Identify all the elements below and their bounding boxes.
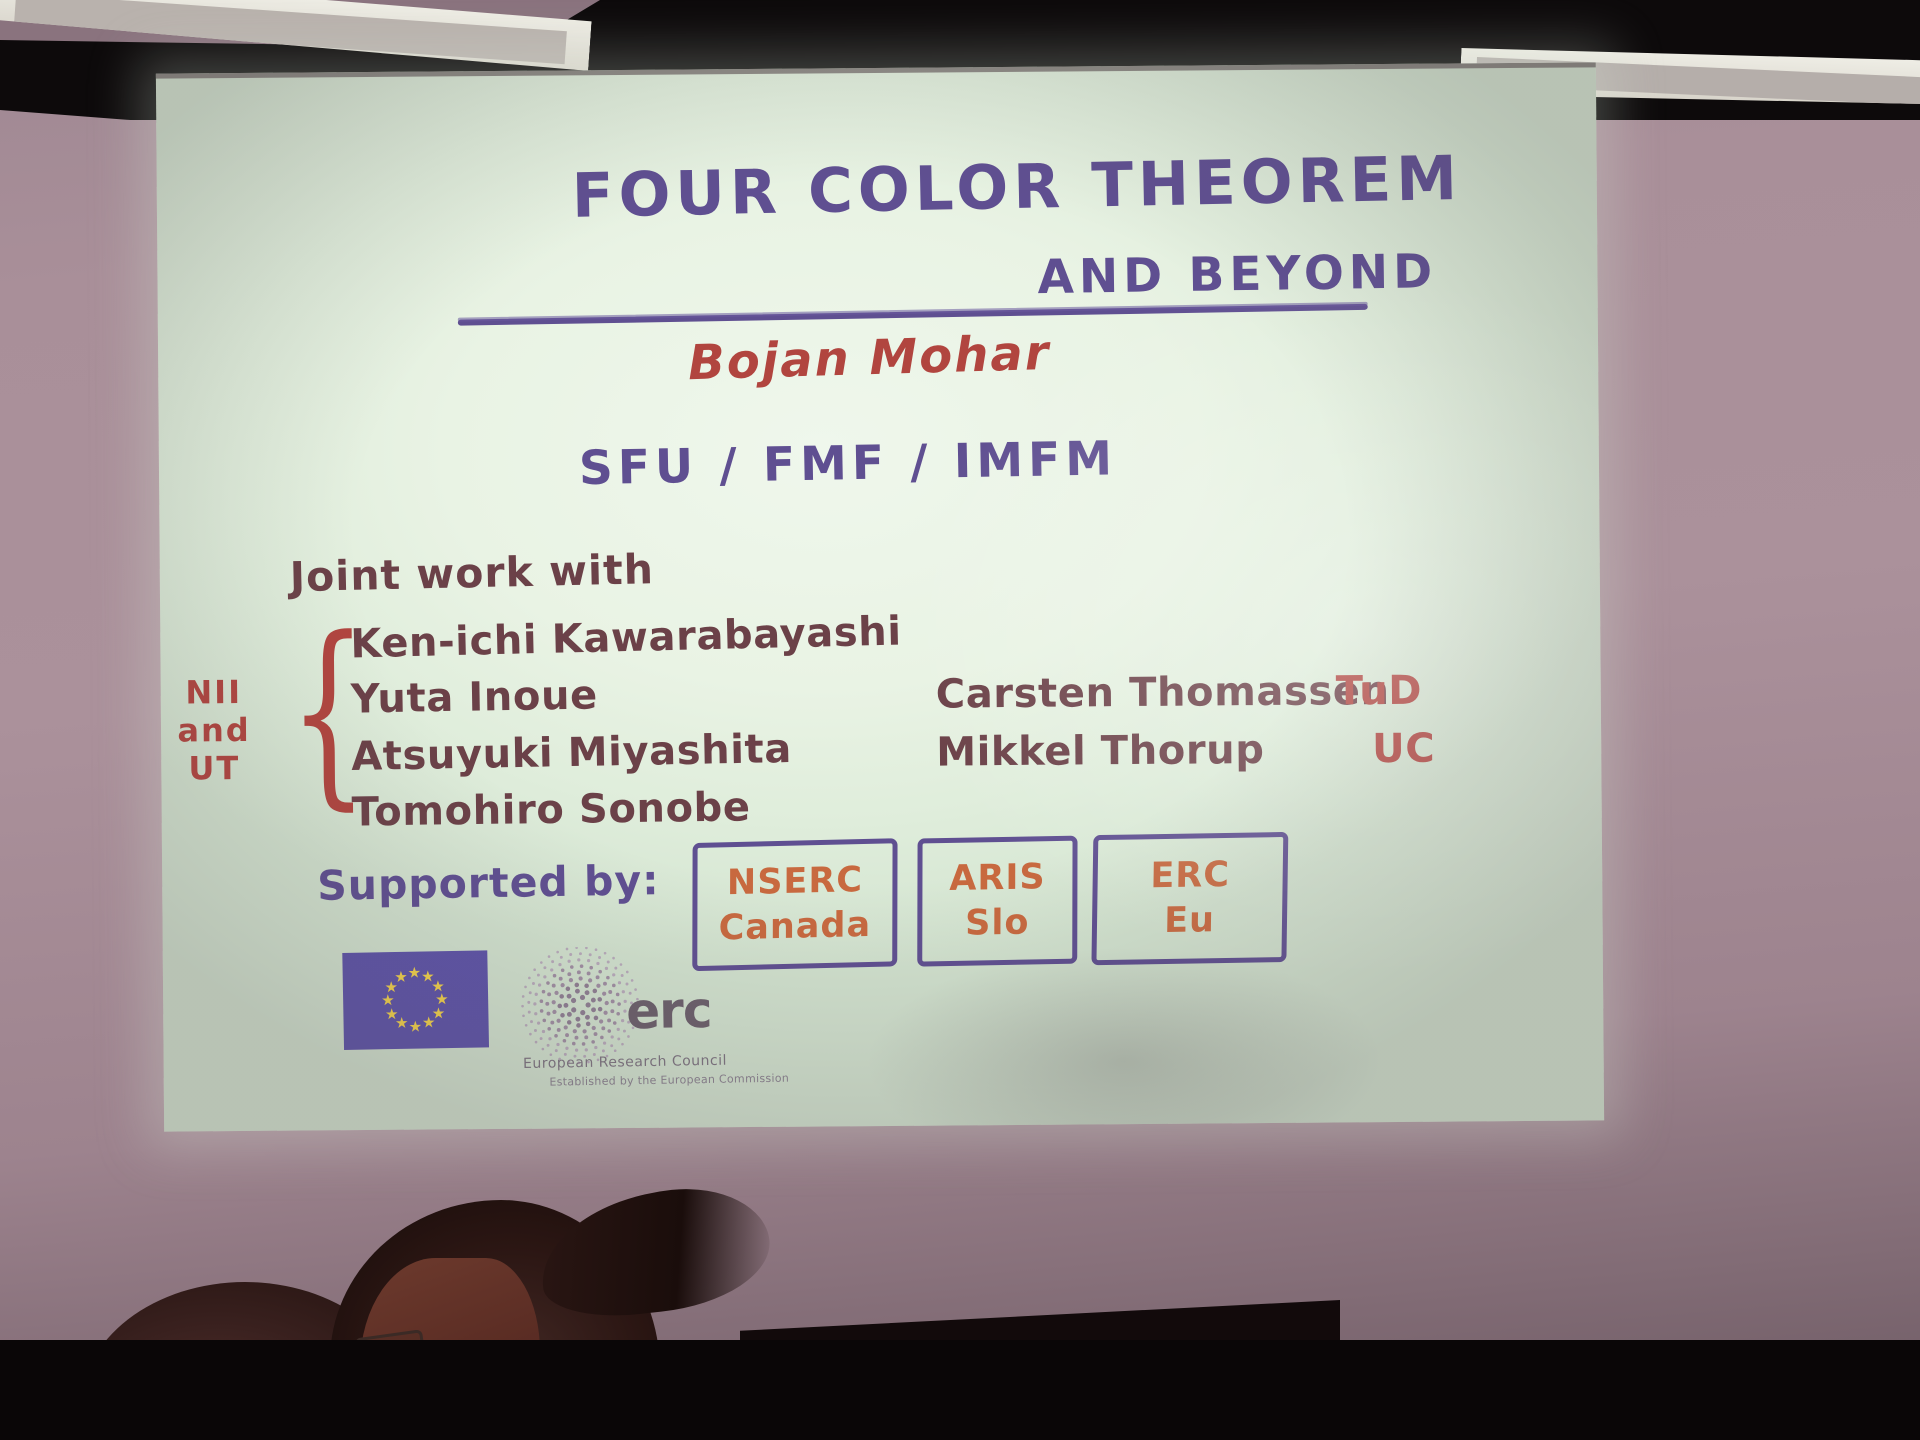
projection-screen-area: FOUR COLOR THEOREM AND BEYOND Bojan Moha… [156,62,1604,1131]
bottom-dark-bar [0,1340,1920,1440]
lecture-photo-scene: FOUR COLOR THEOREM AND BEYOND Bojan Moha… [0,0,1920,1440]
projection-screen: FOUR COLOR THEOREM AND BEYOND Bojan Moha… [156,62,1604,1131]
hair-tuft [534,1180,775,1323]
screen-vignette [156,62,1604,1131]
